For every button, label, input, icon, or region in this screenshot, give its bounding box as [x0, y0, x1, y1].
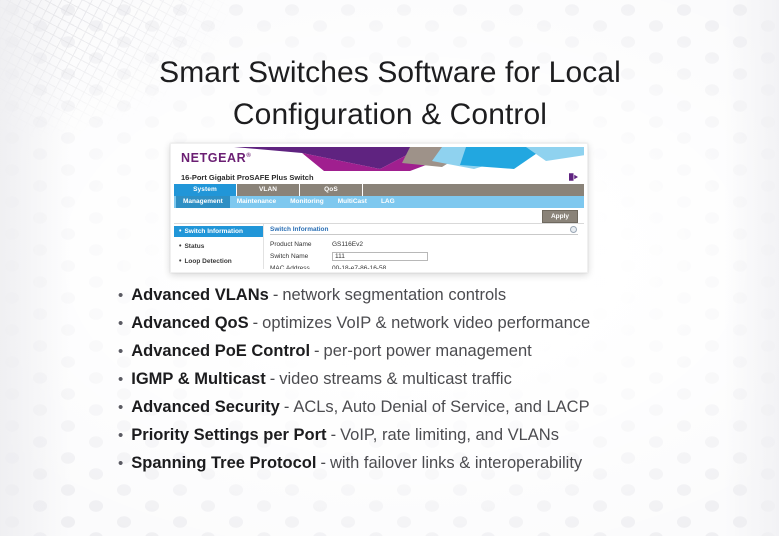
- bullet-term: Advanced PoE Control: [131, 337, 310, 365]
- list-item: • Advanced QoS - optimizes VoIP & networ…: [118, 309, 590, 337]
- bullet-term: Advanced VLANs: [131, 281, 269, 309]
- bullet-description: VoIP, rate limiting, and VLANs: [340, 421, 559, 449]
- field-row-product-name: Product Name GS116Ev2: [270, 238, 584, 250]
- list-item: • Advanced VLANs - network segmentation …: [118, 281, 590, 309]
- subtab-monitoring[interactable]: Monitoring: [283, 196, 331, 208]
- switch-ui-screenshot-card: NETGEAR® 16-Port Gigabit ProSAFE Plus Sw…: [170, 143, 588, 273]
- bullet-term: Advanced Security: [131, 393, 280, 421]
- logout-icon[interactable]: [569, 173, 578, 181]
- switch-ui-sidebar: Switch Information Status Loop Detection: [174, 224, 264, 269]
- subtab-management[interactable]: Management: [176, 196, 230, 208]
- slide: Smart Switches Software for Local Config…: [0, 0, 779, 536]
- apply-button[interactable]: Apply: [542, 210, 578, 223]
- bullet-dash: -: [284, 393, 290, 421]
- field-label-switch-name: Switch Name: [270, 253, 332, 260]
- subtab-maintenance[interactable]: Maintenance: [230, 196, 283, 208]
- netgear-logo: NETGEAR®: [181, 151, 251, 165]
- page-title-line-1: Smart Switches Software for Local: [159, 56, 621, 89]
- page-title: Smart Switches Software for Local Config…: [95, 52, 685, 136]
- bullet-description: per-port power management: [324, 337, 532, 365]
- bullet-dash: -: [314, 337, 320, 365]
- bullet-dash: -: [270, 365, 276, 393]
- field-row-switch-name: Switch Name 111: [270, 250, 584, 262]
- bullet-dot-icon: •: [118, 282, 123, 310]
- list-item: • Priority Settings per Port - VoIP, rat…: [118, 421, 590, 449]
- netgear-logo-text: NETGEAR: [181, 151, 246, 165]
- bullet-description: video streams & multicast traffic: [279, 365, 512, 393]
- main-tab-bar: System VLAN QoS: [174, 184, 584, 196]
- bullet-description: network segmentation controls: [282, 281, 506, 309]
- list-item: • IGMP & Multicast - video streams & mul…: [118, 365, 590, 393]
- field-value-product-name: GS116Ev2: [332, 241, 363, 248]
- switch-model-label: 16-Port Gigabit ProSAFE Plus Switch: [174, 171, 584, 184]
- bullet-term: Advanced QoS: [131, 309, 248, 337]
- section-title: Switch Information: [270, 226, 578, 235]
- subtab-lag[interactable]: LAG: [374, 196, 402, 208]
- switch-ui-body: Switch Information Status Loop Detection…: [174, 224, 584, 269]
- bullet-dash: -: [331, 421, 337, 449]
- field-label-product-name: Product Name: [270, 241, 332, 248]
- apply-bar: Apply: [174, 208, 584, 224]
- bullet-description: with failover links & interoperability: [330, 449, 582, 477]
- sidebar-item-switch-information[interactable]: Switch Information: [174, 226, 263, 237]
- netgear-banner: NETGEAR®: [174, 147, 584, 171]
- bullet-dot-icon: •: [118, 366, 123, 394]
- tab-qos[interactable]: QoS: [300, 184, 363, 196]
- switch-ui-window: NETGEAR® 16-Port Gigabit ProSAFE Plus Sw…: [174, 147, 584, 269]
- bullet-dash: -: [320, 449, 326, 477]
- bullet-dash: -: [273, 281, 279, 309]
- netgear-trademark: ®: [246, 153, 251, 159]
- bullet-description: optimizes VoIP & network video performan…: [262, 309, 590, 337]
- switch-name-input[interactable]: 111: [332, 252, 428, 261]
- bullet-dot-icon: •: [118, 422, 123, 450]
- page-title-line-2: Configuration & Control: [95, 94, 685, 136]
- sub-tab-bar: Management Maintenance Monitoring MultiC…: [174, 196, 584, 208]
- bullet-dash: -: [253, 309, 259, 337]
- field-value-mac-address: 00-18-e7-86-16-58: [332, 265, 386, 270]
- tab-system[interactable]: System: [174, 184, 237, 196]
- help-icon[interactable]: [570, 226, 577, 233]
- feature-bullet-list: • Advanced VLANs - network segmentation …: [118, 281, 590, 477]
- field-row-mac-address: MAC Address 00-18-e7-86-16-58: [270, 262, 584, 269]
- tab-vlan[interactable]: VLAN: [237, 184, 300, 196]
- switch-ui-content: Switch Information Product Name GS116Ev2…: [264, 224, 584, 269]
- bullet-dot-icon: •: [118, 338, 123, 366]
- sidebar-item-loop-detection[interactable]: Loop Detection: [174, 256, 263, 267]
- bullet-description: ACLs, Auto Denial of Service, and LACP: [293, 393, 589, 421]
- bullet-dot-icon: •: [118, 394, 123, 422]
- list-item: • Advanced Security - ACLs, Auto Denial …: [118, 393, 590, 421]
- subtab-multicast[interactable]: MultiCast: [331, 196, 374, 208]
- bullet-term: IGMP & Multicast: [131, 365, 265, 393]
- bullet-term: Priority Settings per Port: [131, 421, 326, 449]
- list-item: • Advanced PoE Control - per-port power …: [118, 337, 590, 365]
- list-item: • Spanning Tree Protocol - with failover…: [118, 449, 590, 477]
- tab-bar-filler: [363, 184, 584, 196]
- bullet-dot-icon: •: [118, 450, 123, 478]
- sidebar-item-status[interactable]: Status: [174, 241, 263, 252]
- bullet-dot-icon: •: [118, 310, 123, 338]
- switch-model-text: 16-Port Gigabit ProSAFE Plus Switch: [181, 173, 314, 182]
- field-label-mac-address: MAC Address: [270, 265, 332, 270]
- bullet-term: Spanning Tree Protocol: [131, 449, 316, 477]
